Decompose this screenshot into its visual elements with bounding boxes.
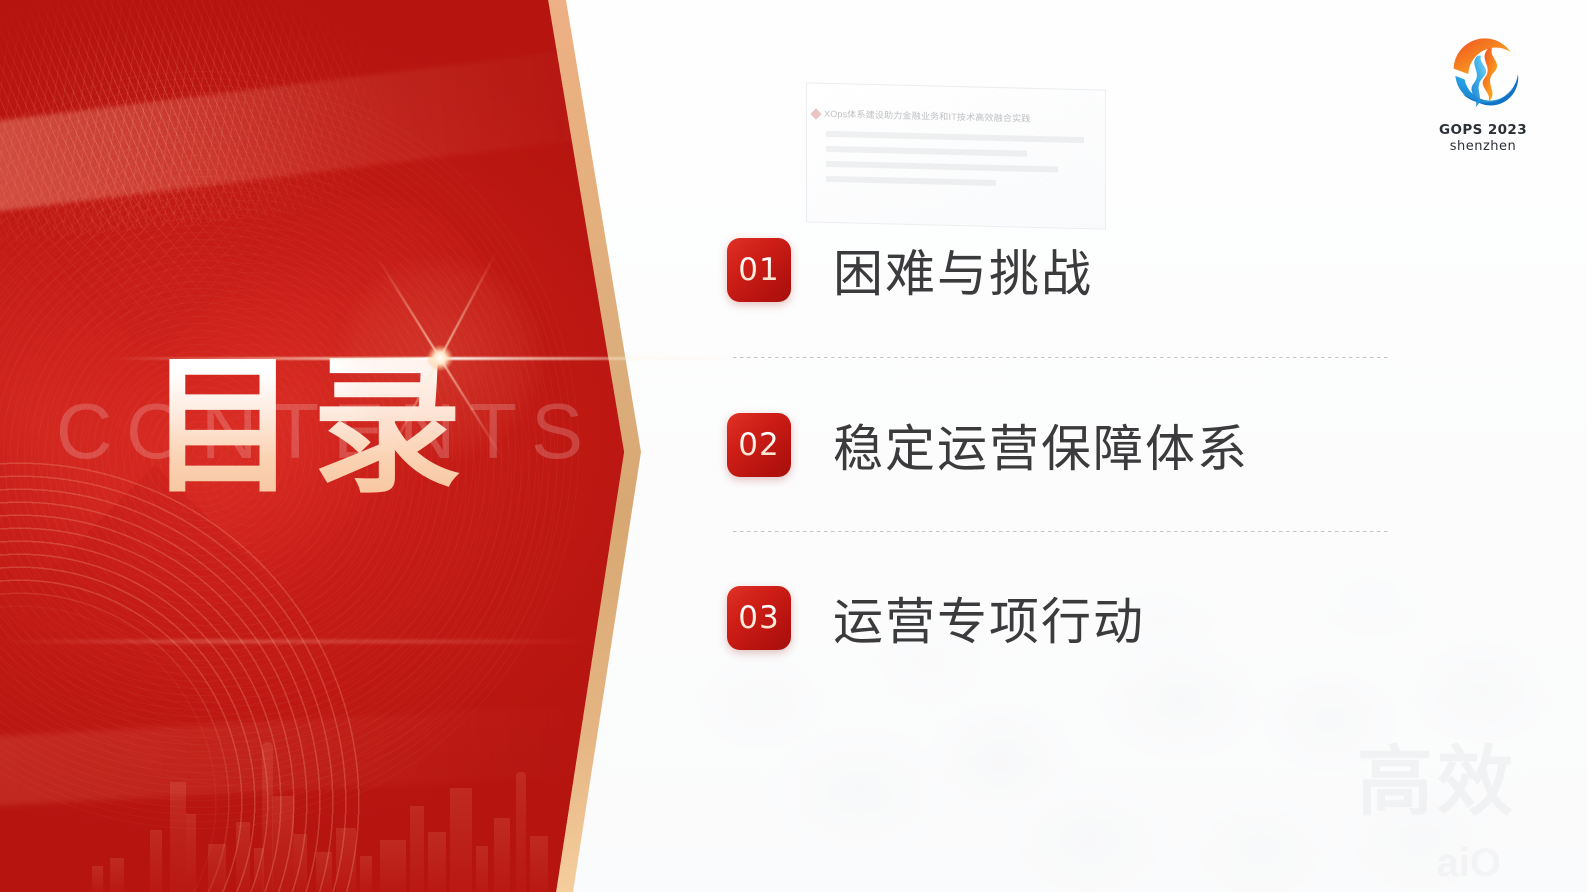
toc-number-02: 02: [738, 427, 779, 463]
toc-item-02[interactable]: 02 稳定运营保障体系: [727, 403, 1427, 487]
light-streak: [0, 640, 600, 643]
logo-city: shenzhen: [1425, 139, 1541, 154]
presentation-slide: XOps体系建设助力金融业务和IT技术高效融合实践 高效 aiO: [0, 0, 1587, 892]
toc-label-02: 稳定运营保障体系: [833, 409, 1249, 481]
city-skyline-silhouette: [0, 722, 620, 892]
toc-item-01[interactable]: 01 困难与挑战: [727, 228, 1427, 312]
gops-swirl-logo-icon: [1425, 28, 1541, 120]
toc-number-badge-03: 03: [727, 586, 791, 650]
toc-number-badge-02: 02: [727, 413, 791, 477]
projection-screen-content: [826, 131, 1084, 197]
toc-label-03: 运营专项行动: [833, 582, 1145, 654]
toc-item-03[interactable]: 03 运营专项行动: [727, 576, 1427, 660]
table-of-contents: 01 困难与挑战 02 稳定运营保障体系 03 运营专项行动: [727, 228, 1427, 660]
background-watermark-sub: aiO: [1437, 841, 1501, 886]
toc-label-01: 困难与挑战: [833, 234, 1093, 306]
toc-number-03: 03: [738, 600, 779, 636]
logo-name: GOPS 2023: [1425, 122, 1541, 138]
toc-number-01: 01: [738, 252, 779, 288]
gops-logo: GOPS 2023 shenzhen: [1425, 28, 1541, 154]
background-watermark-cn: 高效: [1357, 720, 1517, 830]
toc-number-badge-01: 01: [727, 238, 791, 302]
